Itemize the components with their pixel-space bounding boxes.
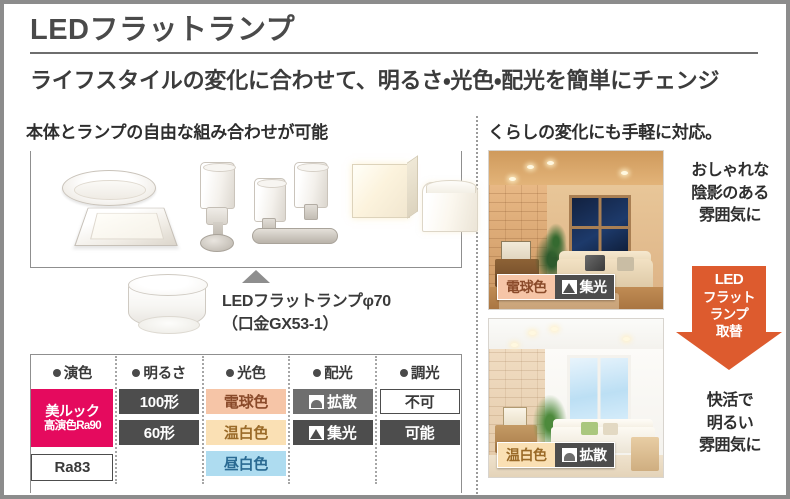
lamp-caption-line2: （口金GX53-1） — [222, 313, 391, 336]
spec-column-header: 配光 — [313, 362, 352, 383]
spot-triangle-icon — [562, 280, 577, 294]
spec-column-light-distribution: 配光 拡散 集光 — [290, 356, 377, 484]
downlight-dot-icon — [547, 161, 554, 165]
single-spot-base-icon — [200, 234, 234, 252]
page-subtitle: ライフスタイルの変化に合わせて、明るさ・光色・配光を簡単にチェンジ — [30, 63, 770, 95]
header: LEDフラットランプ ライフスタイルの変化に合わせて、明るさ・光色・配光を簡単に… — [30, 14, 770, 95]
bullet-icon — [313, 369, 321, 377]
swap-line: ランプ — [676, 306, 782, 323]
left-section-heading: 本体とランプの自由な組み合わせが可能 — [26, 118, 470, 143]
downlight-dot-icon — [511, 343, 518, 347]
double-spot-shade-right-icon — [294, 162, 328, 208]
spec-chip-onpakushoku[interactable]: 温白色 — [206, 420, 286, 445]
biruku-label-line2: 高演色Ra90 — [44, 420, 101, 434]
bullet-icon — [132, 369, 140, 377]
lamp-swap-arrow-icon: LED フラット ランプ 取替 — [676, 266, 782, 370]
badge-distribution-label: 拡散 — [580, 445, 607, 465]
downlight-dot-icon — [527, 165, 534, 169]
spec-chip-kakusan[interactable]: 拡散 — [293, 389, 373, 414]
caption-line: 雰囲気に — [674, 205, 786, 228]
swap-line: LED — [676, 270, 782, 289]
chair — [631, 437, 659, 471]
downlight-dot-icon — [621, 171, 628, 175]
caption-evening-scene: おしゃれな 陰影のある 雰囲気に — [674, 160, 786, 228]
photo-daylight-living-room: 温白色 拡散 — [488, 318, 664, 478]
cushion — [581, 422, 598, 435]
downlight-dot-icon — [529, 331, 536, 335]
spec-table: 演色 美ルック 高演色Ra90 Ra83 明るさ 100形 60形 光色 電球色… — [30, 356, 462, 493]
spec-column-dimming: 調光 不可 可能 — [377, 356, 462, 484]
diffuse-dome-icon — [309, 395, 324, 409]
led-flat-lamp-caption: LEDフラットランプφ70 （口金GX53-1） — [222, 290, 391, 336]
spec-column-header: 明るさ — [132, 362, 186, 383]
spec-chip-shuukou[interactable]: 集光 — [293, 420, 373, 445]
led-flat-lamp-icon — [128, 282, 206, 328]
spec-header-label: 演色 — [64, 366, 92, 382]
panel-divider — [476, 116, 478, 494]
cushion — [617, 257, 634, 271]
scene-badge-top: 電球色 集光 — [497, 274, 615, 300]
spec-header-label: 光色 — [237, 366, 265, 382]
spec-chip-denkyuushoku[interactable]: 電球色 — [206, 389, 286, 414]
lamp-caption-line1: LEDフラットランプφ70 — [222, 290, 391, 313]
title-divider — [30, 52, 758, 54]
drum-bracket-light-icon — [422, 182, 478, 232]
caption-daylight-scene: 快活で 明るい 雰囲気に — [674, 390, 786, 458]
spec-column-header: 演色 — [53, 362, 92, 383]
fixtures-illustration-row — [30, 154, 464, 262]
caption-line: 明るい — [674, 413, 786, 436]
badge-light-color: 電球色 — [498, 275, 555, 299]
spec-chip-chuuhakushoku[interactable]: 昼白色 — [206, 451, 286, 476]
swap-line: フラット — [676, 289, 782, 306]
window-day — [567, 355, 631, 427]
spec-column-brightness: 明るさ 100形 60形 — [117, 356, 204, 484]
spec-chip-ra83[interactable]: Ra83 — [31, 454, 113, 481]
led-flat-lamp-callout: LEDフラットランプφ70 （口金GX53-1） — [30, 270, 466, 348]
single-spot-shade-icon — [200, 162, 235, 209]
page-title: LEDフラットランプ — [30, 14, 770, 47]
wall-art — [503, 407, 527, 427]
swap-arrow-label: LED フラット ランプ 取替 — [676, 270, 782, 340]
badge-distribution: 集光 — [555, 275, 614, 299]
kakusan-label: 拡散 — [327, 391, 356, 412]
caption-line: 陰影のある — [674, 183, 786, 206]
spec-header-label: 明るさ — [143, 366, 186, 382]
spec-header-label: 調光 — [411, 366, 439, 382]
right-section-heading: くらしの変化にも手軽に対応。 — [488, 118, 788, 143]
spec-column-light-color: 光色 電球色 温白色 昼白色 — [204, 356, 291, 484]
double-spot-shade-left-icon — [254, 178, 286, 222]
badge-light-color: 温白色 — [498, 443, 555, 467]
scene-badge-bottom: 温白色 拡散 — [497, 442, 615, 468]
downlight-dot-icon — [551, 327, 558, 331]
spec-column-header: 光色 — [226, 362, 265, 383]
infographic-page: LEDフラットランプ ライフスタイルの変化に合わせて、明るさ・光色・配光を簡単に… — [0, 0, 790, 499]
up-arrow-icon — [242, 270, 270, 283]
caption-line: おしゃれな — [674, 160, 786, 183]
bullet-icon — [53, 369, 61, 377]
round-downlight-icon — [62, 170, 156, 206]
spec-chip-kanou[interactable]: 可能 — [380, 420, 460, 445]
caption-line: 雰囲気に — [674, 435, 786, 458]
spot-triangle-icon — [309, 426, 324, 440]
cushion — [585, 255, 605, 271]
downlight-dot-icon — [509, 177, 516, 181]
spec-chip-100gata[interactable]: 100形 — [119, 389, 199, 414]
photo-evening-living-room: 電球色 集光 — [488, 150, 664, 310]
diffuse-dome-icon — [562, 448, 577, 462]
spec-header-label: 配光 — [324, 366, 352, 382]
left-panel: 本体とランプの自由な組み合わせが可能 LEDフラットランプφ70 — [26, 118, 470, 143]
spec-chip-biruku[interactable]: 美ルック 高演色Ra90 — [31, 389, 113, 447]
square-bracket-light-icon — [352, 164, 410, 218]
bullet-icon — [226, 369, 234, 377]
square-downlight-icon — [74, 208, 178, 246]
shuukou-label: 集光 — [327, 422, 356, 443]
bullet-icon — [400, 369, 408, 377]
badge-distribution: 拡散 — [555, 443, 614, 467]
double-spot-neck-right-icon — [304, 204, 318, 220]
double-spot-base-bar-icon — [252, 228, 338, 244]
cushion — [603, 423, 618, 435]
spec-chip-60gata[interactable]: 60形 — [119, 420, 199, 445]
badge-distribution-label: 集光 — [580, 277, 607, 297]
spec-column-header: 調光 — [400, 362, 439, 383]
swap-line: 取替 — [676, 323, 782, 340]
spec-column-color-rendering: 演色 美ルック 高演色Ra90 Ra83 — [30, 356, 117, 484]
downlight-dot-icon — [623, 337, 630, 341]
right-panel: くらしの変化にも手軽に対応。 電球色 集光 — [488, 118, 788, 143]
caption-line: 快活で — [674, 390, 786, 413]
biruku-label-line1: 美ルック — [45, 403, 99, 420]
spec-chip-fuka[interactable]: 不可 — [380, 389, 460, 414]
